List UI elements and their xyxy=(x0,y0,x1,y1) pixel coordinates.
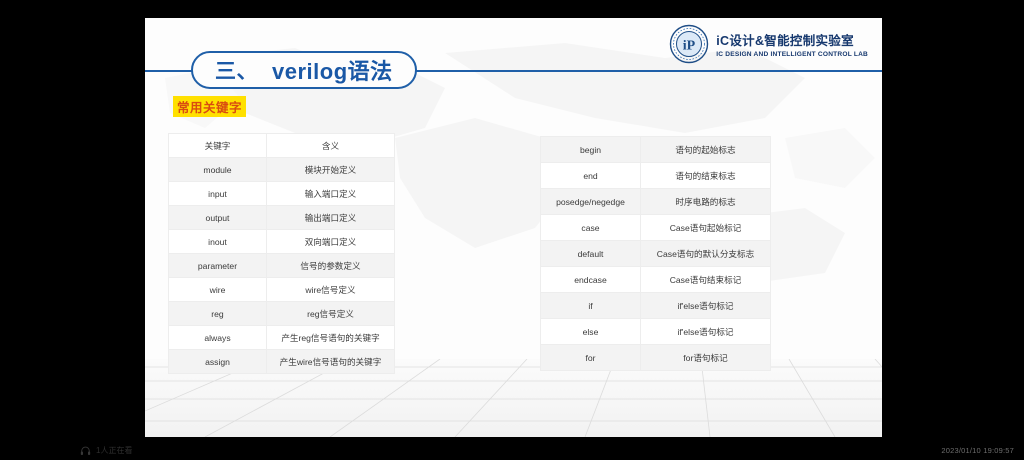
keyword-table-left: 关键字含义module模块开始定义input输入端口定义output输出端口定义… xyxy=(168,133,395,374)
table-row: output输出端口定义 xyxy=(169,206,395,230)
table-row: module模块开始定义 xyxy=(169,158,395,182)
keyword-cell: end xyxy=(541,163,641,189)
meaning-cell: 产生reg信号语句的关键字 xyxy=(267,326,395,350)
ic-lab-logo-icon: iP xyxy=(669,24,709,64)
table-row: ifif'else语句标记 xyxy=(541,293,771,319)
table-row: always产生reg信号语句的关键字 xyxy=(169,326,395,350)
table-row: defaultCase语句的默认分支标志 xyxy=(541,241,771,267)
keyword-cell: parameter xyxy=(169,254,267,278)
keyword-cell: assign xyxy=(169,350,267,374)
table-row: forfor语句标记 xyxy=(541,345,771,371)
table-header-cell: 关键字 xyxy=(169,134,267,158)
table-header-cell: 含义 xyxy=(267,134,395,158)
table-row: input输入端口定义 xyxy=(169,182,395,206)
viewer-count-text: 1人正在看 xyxy=(96,445,132,456)
keyword-cell: module xyxy=(169,158,267,182)
meaning-cell: wire信号定义 xyxy=(267,278,395,302)
keyword-cell: input xyxy=(169,182,267,206)
meaning-cell: 产生wire信号语句的关键字 xyxy=(267,350,395,374)
table-row: parameter信号的参数定义 xyxy=(169,254,395,278)
meaning-cell: Case语句的默认分支标志 xyxy=(641,241,771,267)
lab-logo: iP iC设计&智能控制实验室 IC DESIGN AND INTELLIGEN… xyxy=(669,24,868,64)
video-player[interactable]: 三、 verilog语法 iP iC设计&智能控制实验室 IC DESIGN A… xyxy=(0,0,1024,460)
keyword-cell: case xyxy=(541,215,641,241)
table-row: wirewire信号定义 xyxy=(169,278,395,302)
table-row: regreg信号定义 xyxy=(169,302,395,326)
table-row: endcaseCase语句结束标记 xyxy=(541,267,771,293)
keyword-table-right: begin语句的起始标志end语句的结束标志posedge/negedge时序电… xyxy=(540,136,771,371)
meaning-cell: Case语句起始标记 xyxy=(641,215,771,241)
presentation-slide: 三、 verilog语法 iP iC设计&智能控制实验室 IC DESIGN A… xyxy=(145,18,882,437)
meaning-cell: 输入端口定义 xyxy=(267,182,395,206)
keyword-cell: reg xyxy=(169,302,267,326)
meaning-cell: reg信号定义 xyxy=(267,302,395,326)
keyword-cell: wire xyxy=(169,278,267,302)
meaning-cell: for语句标记 xyxy=(641,345,771,371)
meaning-cell: if'else语句标记 xyxy=(641,293,771,319)
table-row: end语句的结束标志 xyxy=(541,163,771,189)
keyword-cell: output xyxy=(169,206,267,230)
viewer-count-watermark: 1人正在看 xyxy=(80,445,132,456)
lab-name-en: IC DESIGN AND INTELLIGENT CONTROL LAB xyxy=(716,51,868,58)
keyword-cell: else xyxy=(541,319,641,345)
meaning-cell: 语句的起始标志 xyxy=(641,137,771,163)
title-number: 三、 xyxy=(215,55,258,85)
table-row: inout双向端口定义 xyxy=(169,230,395,254)
svg-text:iP: iP xyxy=(683,39,696,54)
headphone-icon xyxy=(80,445,91,456)
title-text: verilog语法 xyxy=(272,54,393,86)
table-row: caseCase语句起始标记 xyxy=(541,215,771,241)
slide-subtitle: 常用关键字 xyxy=(173,96,246,117)
meaning-cell: 双向端口定义 xyxy=(267,230,395,254)
timestamp: 2023/01/10 19:09:57 xyxy=(941,446,1014,455)
table-header-row: 关键字含义 xyxy=(169,134,395,158)
keyword-cell: for xyxy=(541,345,641,371)
keyword-table-right-body: begin语句的起始标志end语句的结束标志posedge/negedge时序电… xyxy=(541,137,771,371)
keyword-cell: inout xyxy=(169,230,267,254)
meaning-cell: Case语句结束标记 xyxy=(641,267,771,293)
lab-name-cn: iC设计&智能控制实验室 xyxy=(716,30,868,49)
table-row: assign产生wire信号语句的关键字 xyxy=(169,350,395,374)
meaning-cell: 语句的结束标志 xyxy=(641,163,771,189)
keyword-cell: if xyxy=(541,293,641,319)
meaning-cell: 时序电路的标志 xyxy=(641,189,771,215)
keyword-cell: endcase xyxy=(541,267,641,293)
meaning-cell: if'else语句标记 xyxy=(641,319,771,345)
meaning-cell: 模块开始定义 xyxy=(267,158,395,182)
keyword-cell: always xyxy=(169,326,267,350)
keyword-cell: posedge/negedge xyxy=(541,189,641,215)
keyword-cell: begin xyxy=(541,137,641,163)
keyword-table-left-body: 关键字含义module模块开始定义input输入端口定义output输出端口定义… xyxy=(169,134,395,374)
table-row: elseif'else语句标记 xyxy=(541,319,771,345)
meaning-cell: 信号的参数定义 xyxy=(267,254,395,278)
table-row: begin语句的起始标志 xyxy=(541,137,771,163)
table-row: posedge/negedge时序电路的标志 xyxy=(541,189,771,215)
meaning-cell: 输出端口定义 xyxy=(267,206,395,230)
keyword-cell: default xyxy=(541,241,641,267)
slide-title: 三、 verilog语法 xyxy=(191,51,417,89)
